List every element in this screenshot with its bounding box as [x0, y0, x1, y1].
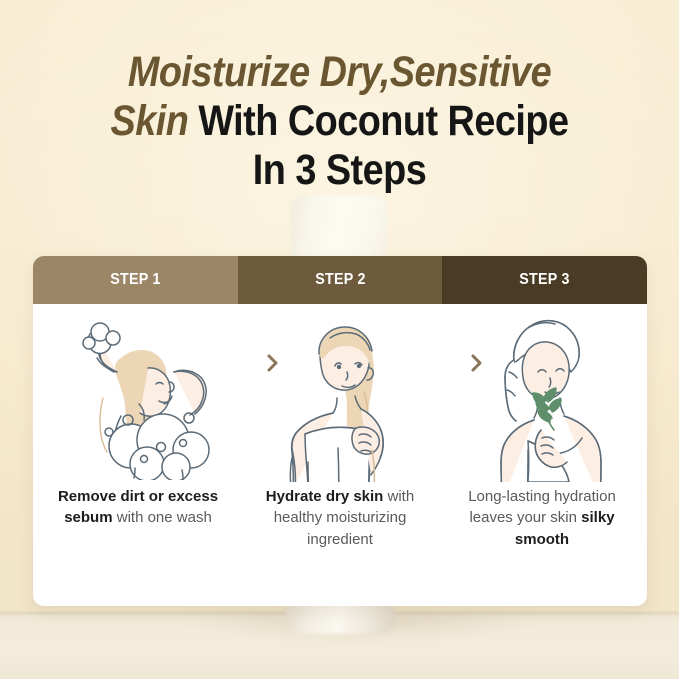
steps-card: STEP 1 STEP 2 STEP 3 [33, 256, 647, 606]
step-column-1: Remove dirt or excess sebum with one was… [37, 304, 239, 606]
chevron-right-icon-1 [261, 350, 283, 376]
headline-emphasis-2: Skin [111, 97, 189, 145]
headline-line-3: In 3 Steps [41, 146, 639, 195]
step-header-2: STEP 2 [238, 256, 443, 304]
step-header-3: STEP 3 [442, 256, 647, 304]
step-header-2-label: STEP 2 [315, 271, 366, 289]
step-caption-2: Hydrate dry skin with healthy moisturizi… [239, 486, 441, 550]
headline-emphasis-1: Moisturize Dry,Sensitive [128, 48, 551, 96]
step-header-1: STEP 1 [33, 256, 238, 304]
step-caption-1: Remove dirt or excess sebum with one was… [37, 486, 239, 529]
woman-in-towel-holding-hair-icon [239, 310, 441, 482]
woman-with-hair-towel-holding-leaf-icon [441, 310, 643, 482]
chevron-right-icon-2 [465, 350, 487, 376]
step-body-row: Remove dirt or excess sebum with one was… [33, 304, 647, 606]
step-header-row: STEP 1 STEP 2 STEP 3 [33, 256, 647, 304]
step-caption-2-strong: Hydrate dry skin [266, 488, 384, 505]
headline-line-1: Moisturize Dry,Sensitive [41, 48, 639, 97]
step-header-3-label: STEP 3 [519, 271, 570, 289]
headline-line-2: Skin With Coconut Recipe [41, 97, 639, 146]
step-caption-1-soft: with one wash [117, 509, 212, 526]
page-title: Moisturize Dry,Sensitive Skin With Cocon… [41, 48, 639, 195]
step-header-1-label: STEP 1 [110, 271, 161, 289]
headline-plain-2: With Coconut Recipe [188, 97, 568, 145]
step-caption-3: Long-lasting hydration leaves your skin … [441, 486, 643, 550]
woman-washing-with-foam-icon [37, 310, 239, 482]
headline-plain-3: In 3 Steps [253, 146, 426, 194]
